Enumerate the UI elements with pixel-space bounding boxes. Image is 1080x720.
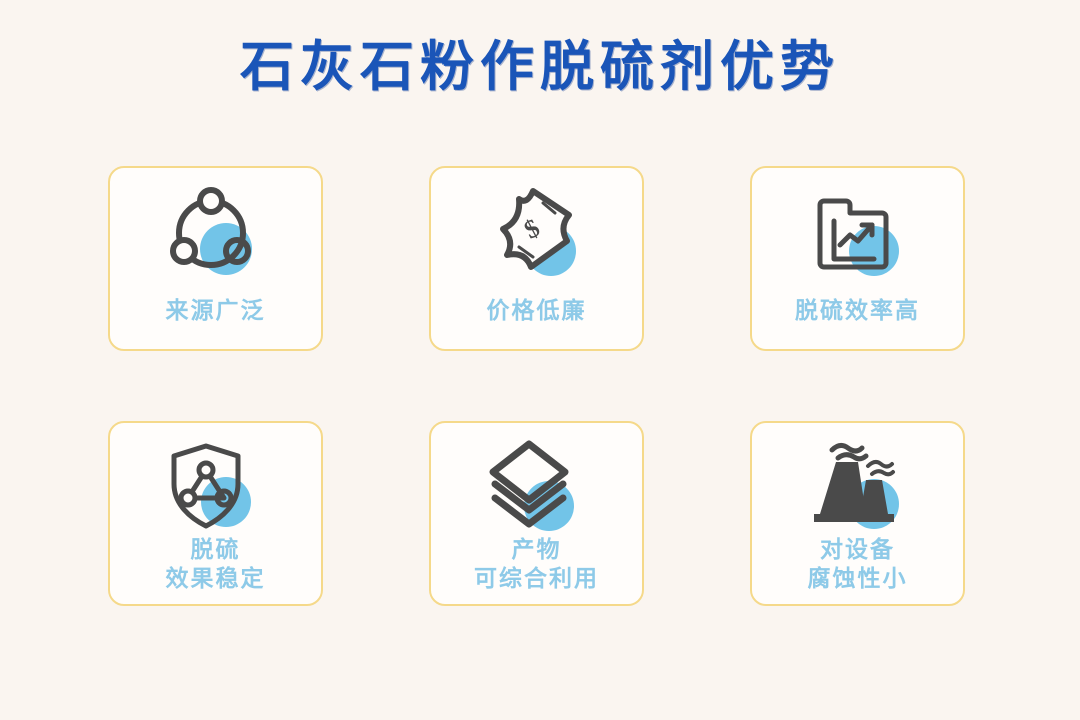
advantage-card-byproduct[interactable]: 产物 可综合利用 [429,421,644,606]
folder-chart-icon [803,184,913,284]
advantages-grid: 来源广泛 $ 价格低廉 [108,166,974,606]
factory-towers-icon [803,439,913,539]
banknote-dollar-icon: $ [482,184,592,284]
advantage-card-source[interactable]: 来源广泛 [108,166,323,351]
advantage-card-price[interactable]: $ 价格低廉 [429,166,644,351]
layers-stack-icon [482,439,592,539]
infographic-page: 石灰石粉作脱硫剂优势 来源广泛 [0,0,1080,720]
advantage-card-label: 价格低廉 [431,296,642,325]
advantage-card-label: 脱硫效率高 [752,296,963,325]
advantage-card-stability[interactable]: 脱硫 效果稳定 [108,421,323,606]
advantage-card-label: 对设备 腐蚀性小 [752,535,963,593]
advantage-card-corrosion[interactable]: 对设备 腐蚀性小 [750,421,965,606]
page-title: 石灰石粉作脱硫剂优势 [0,36,1080,98]
network-nodes-icon [161,184,271,284]
advantage-card-label: 脱硫 效果稳定 [110,535,321,593]
advantage-card-label: 来源广泛 [110,296,321,325]
advantage-card-label: 产物 可综合利用 [431,535,642,593]
shield-network-icon [161,439,271,539]
advantage-card-efficiency[interactable]: 脱硫效率高 [750,166,965,351]
